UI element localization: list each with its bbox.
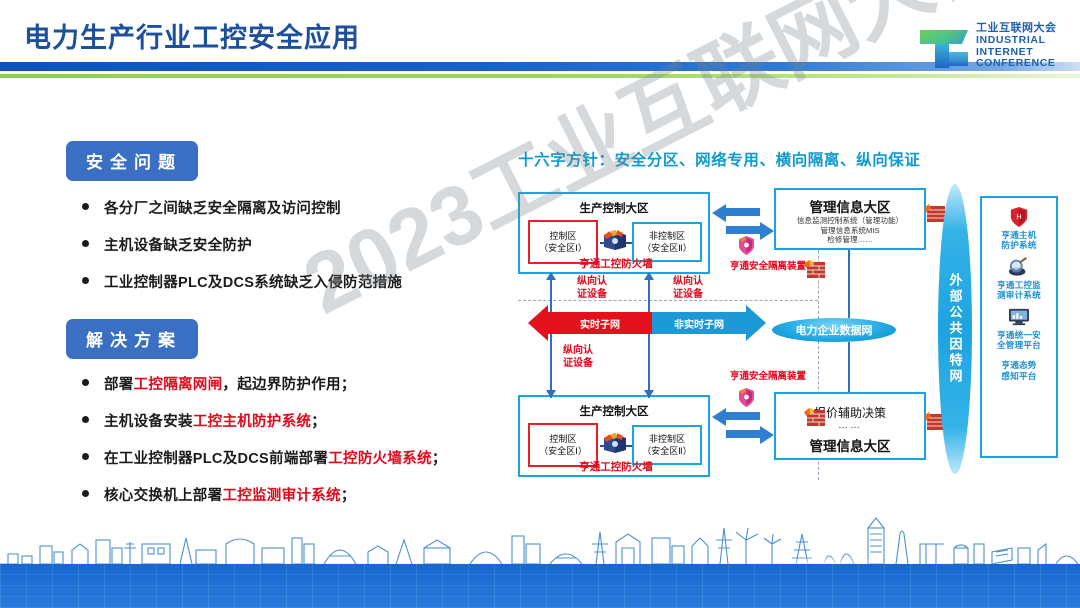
mgmt-datanet-line-top <box>848 250 850 318</box>
list-item-highlight: 工控主机防护系统 <box>193 414 311 430</box>
list-item-text-pre: 主机设备安装 <box>104 414 193 430</box>
product-label: 亨通态势 感知平台 <box>982 360 1056 381</box>
management-info-zone-top: 管理信息大区 信息监测控制系统（管理功能） 管理信息系统MIS 检修管理…… <box>774 188 926 250</box>
arrow-head-up <box>546 272 556 280</box>
realtime-subnet-label: 实时子网 <box>548 312 652 334</box>
page-title: 电力生产行业工控安全应用 <box>24 16 360 55</box>
external-public-internet: 外部公共因特网 <box>938 184 972 474</box>
control-area-label: 控制区 （安全区Ⅰ） <box>530 433 596 457</box>
arrow-head-down <box>546 390 556 398</box>
arrow-head-up <box>644 272 654 280</box>
mgmt-datanet-line-bottom <box>848 342 850 392</box>
list-item-text-pre: 核心交换机上部署 <box>104 488 222 504</box>
industrial-firewall-icon <box>602 433 628 455</box>
power-enterprise-data-network: 电力企业数据网 <box>772 318 896 342</box>
logo-text: 工业互联网大会 INDUSTRIAL INTERNET CONFERENCE <box>976 19 1057 70</box>
shield-lock-icon <box>738 236 755 255</box>
firewall-label-bottom: 亨通工控防火墙 <box>556 459 676 474</box>
list-item: 核心交换机上部署工控监测审计系统； <box>78 484 498 505</box>
logo-title-en-1: INDUSTRIAL <box>976 35 1057 47</box>
solution-bullet-list: 部署工控隔离网闸，起边界防护作用； 主机设备安装工控主机防护系统； 在工业控制器… <box>78 373 498 521</box>
product-item: H 亨通主机 防护系统 <box>982 204 1056 251</box>
architecture-diagram: 十六字方针：安全分区、网络专用、横向隔离、纵向保证 生产控制大区 控制区 （安全… <box>500 140 1080 500</box>
mgmt-sub-1: 信息监测控制系统（管理功能） <box>776 216 924 226</box>
noncontrol-area-label: 非控制区 （安全区Ⅱ） <box>634 230 700 254</box>
arrow-right-top <box>760 222 774 240</box>
logo-title-en-3: CONFERENCE <box>976 58 1057 70</box>
mgmt-bottom-line1: 报价辅助决策 <box>776 404 924 421</box>
list-item-text-post: ； <box>341 488 356 504</box>
conference-logo: 工业互联网大会 INDUSTRIAL INTERNET CONFERENCE <box>918 18 1066 76</box>
industrial-firewall-icon <box>602 230 628 252</box>
brick-firewall-icon <box>804 260 826 280</box>
list-item-text-post: ； <box>311 414 326 430</box>
mgmt-bottom-line2: …… <box>776 421 924 431</box>
production-control-zone-bottom: 生产控制大区 控制区 （安全区Ⅰ） 非控制区 （安全区Ⅱ） 亨通工控防火墙 <box>518 395 710 477</box>
problem-bullet-list: 各分厂之间缺乏安全隔离及访问控制 主机设备缺乏安全防护 工业控制器PLC及DCS… <box>78 197 498 308</box>
list-item-text-post: ； <box>432 451 447 467</box>
auth-device-label-2: 纵向认 证设备 <box>660 276 716 301</box>
zone-mgmt-link-stem-bottom2 <box>726 430 760 438</box>
zone-mgmt-link-stem-top <box>726 208 760 216</box>
product-label: 亨通工控监 测审计系统 <box>982 280 1056 301</box>
list-item: 各分厂之间缺乏安全隔离及访问控制 <box>78 197 498 218</box>
auth-device-label-1: 纵向认 证设备 <box>564 276 620 301</box>
vertical-auth-line-left <box>550 280 552 398</box>
internet-label: 外部公共因特网 <box>946 273 965 385</box>
list-item-text-post: ，起边界防护作用； <box>222 377 355 393</box>
arrow-head-down <box>644 390 654 398</box>
control-area-label: 控制区 （安全区Ⅰ） <box>530 230 596 254</box>
product-item: 亨通态势 感知平台 <box>982 360 1056 381</box>
list-item: 主机设备安装工控主机防护系统； <box>78 410 498 431</box>
realtime-subnet-arrow: 实时子网 <box>548 312 652 334</box>
product-item: 亨通统一安 全管理平台 <box>982 304 1056 351</box>
zone-mgmt-link-stem-top2 <box>726 226 760 234</box>
list-item: 部署工控隔离网闸，起边界防护作用； <box>78 373 498 394</box>
mgmt-title-bottom: 管理信息大区 <box>776 435 924 455</box>
list-item-text-pre: 在工业控制器PLC及DCS前端部署 <box>104 451 328 467</box>
arrow-right-bottom <box>760 426 774 444</box>
monitor-platform-icon <box>982 304 1056 330</box>
list-item: 主机设备缺乏安全防护 <box>78 234 498 255</box>
isolation-device-label-bottom: 亨通安全隔离装置 <box>716 368 820 382</box>
industrial-city-skyline-icon <box>0 514 1080 566</box>
data-network-label: 电力企业数据网 <box>796 322 873 338</box>
management-info-zone-bottom: 报价辅助决策 …… 管理信息大区 <box>774 392 926 460</box>
shield-lock-icon <box>738 388 755 407</box>
diagram-title: 十六字方针：安全分区、网络专用、横向隔离、纵向保证 <box>518 148 921 170</box>
auth-device-label-3: 纵向认 证设备 <box>550 345 606 370</box>
product-item: 亨通工控监 测审计系统 <box>982 254 1056 301</box>
mgmt-sub-3: 检修管理…… <box>776 235 924 245</box>
product-label: 亨通主机 防护系统 <box>982 230 1056 251</box>
page-header: 电力生产行业工控安全应用 <box>0 0 1080 92</box>
vertical-auth-line-right <box>648 280 650 398</box>
list-item-highlight: 工控防火墙系统 <box>328 451 432 467</box>
section-badge-problem: 安全问题 <box>66 141 198 181</box>
page-footer <box>0 516 1080 608</box>
firewall-label-top: 亨通工控防火墙 <box>556 256 676 271</box>
svg-text:H: H <box>1016 212 1021 221</box>
zone-title: 生产控制大区 <box>520 200 708 216</box>
production-control-zone-top: 生产控制大区 控制区 （安全区Ⅰ） 非控制区 （安全区Ⅱ） 亨通工控防火墙 <box>518 192 710 274</box>
host-shield-icon: H <box>982 204 1056 230</box>
brick-firewall-icon <box>804 408 826 428</box>
list-item: 工业控制器PLC及DCS系统缺乏入侵防范措施 <box>78 271 498 292</box>
list-item-highlight: 工控监测审计系统 <box>222 488 340 504</box>
footer-band <box>0 564 1080 608</box>
list-item: 在工业控制器PLC及DCS前端部署工控防火墙系统； <box>78 447 498 468</box>
nonrealtime-subnet-label: 非实时子网 <box>652 312 746 334</box>
mgmt-sub-2: 管理信息系统MIS <box>776 226 924 236</box>
industrial-internet-t-mark-icon <box>918 22 970 72</box>
list-item-text-pre: 部署 <box>104 377 134 393</box>
list-item-highlight: 工控隔离网闸 <box>134 377 223 393</box>
mgmt-title-top: 管理信息大区 <box>776 196 924 216</box>
security-product-panel: H 亨通主机 防护系统 亨通工控监 测审计系统 <box>980 196 1058 458</box>
nonrealtime-subnet-arrow: 非实时子网 <box>652 312 746 334</box>
audit-magnifier-icon <box>982 254 1056 280</box>
zone-title: 生产控制大区 <box>520 403 708 419</box>
zone-mgmt-link-stem-bottom <box>726 412 760 420</box>
logo-title-cn: 工业互联网大会 <box>976 19 1057 35</box>
product-label: 亨通统一安 全管理平台 <box>982 330 1056 351</box>
noncontrol-area-label: 非控制区 （安全区Ⅱ） <box>634 433 700 457</box>
arrow-left-bottom <box>712 408 726 426</box>
arrow-left-top <box>712 204 726 222</box>
section-badge-solution: 解决方案 <box>66 319 198 359</box>
